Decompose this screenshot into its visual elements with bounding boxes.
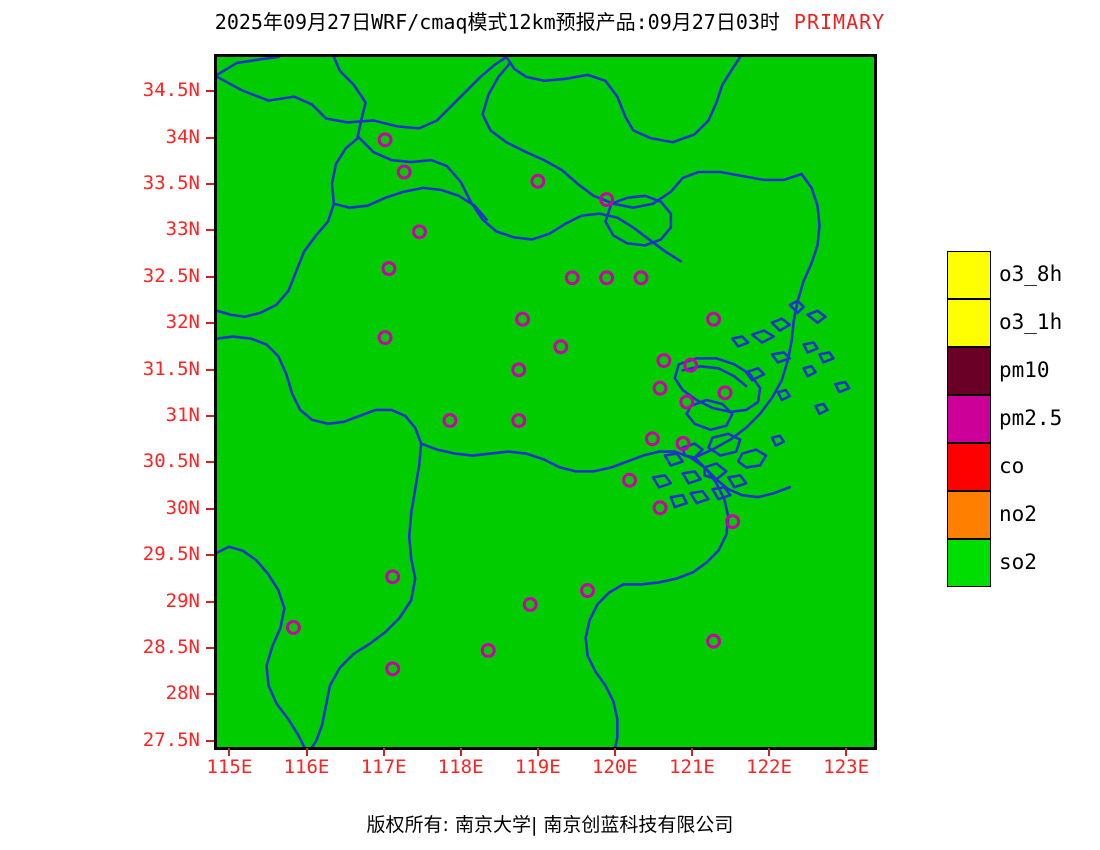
x-axis-tick [614,748,616,756]
y-axis-tick-label: 32N [100,313,200,332]
x-axis-tick-label: 120E [575,758,655,777]
y-axis-tick-label: 33.5N [100,174,200,193]
x-axis-tick [845,748,847,756]
legend-item-label: pm2.5 [999,407,1062,429]
y-axis-tick-label: 32.5N [100,267,200,286]
x-axis-tick [537,748,539,756]
y-axis-tick-label: 30N [100,499,200,518]
y-axis-tick-label: 29.5N [100,545,200,564]
y-axis-tick [206,137,214,139]
x-axis-tick-label: 118E [421,758,501,777]
legend-color-swatch [947,251,991,299]
y-axis-tick [206,508,214,510]
legend-color-swatch [947,443,991,491]
x-axis-tick-label: 116E [267,758,347,777]
map-canvas [217,57,874,747]
y-axis-tick [206,554,214,556]
y-axis-tick-label: 34N [100,128,200,147]
legend-item-label: o3_1h [999,311,1062,333]
y-axis-tick [206,740,214,742]
x-axis-tick [383,748,385,756]
x-axis-tick-label: 121E [652,758,732,777]
y-axis-tick-label: 28N [100,684,200,703]
y-axis-tick [206,647,214,649]
chart-title-primary: PRIMARY [794,10,885,34]
y-axis-tick-label: 30.5N [100,452,200,471]
y-axis-tick-label: 31.5N [100,360,200,379]
x-axis-tick-label: 122E [729,758,809,777]
y-axis-tick-label: 33N [100,220,200,239]
x-axis-tick [460,748,462,756]
x-axis-tick-label: 119E [498,758,578,777]
legend-color-swatch [947,395,991,443]
x-axis-tick [691,748,693,756]
x-axis-tick [228,748,230,756]
legend-item-label: o3_8h [999,263,1062,285]
map-plot-area[interactable] [214,54,877,750]
legend-item-label: pm10 [999,359,1050,381]
y-axis-tick [206,415,214,417]
y-axis-tick [206,90,214,92]
y-axis-tick-label: 34.5N [100,81,200,100]
x-axis-tick-label: 115E [189,758,269,777]
y-axis-tick-label: 31N [100,406,200,425]
y-axis-tick-label: 28.5N [100,638,200,657]
legend-color-swatch [947,347,991,395]
x-axis-tick-label: 117E [344,758,424,777]
y-axis-tick-label: 29N [100,592,200,611]
y-axis-tick [206,461,214,463]
legend-item-label: so2 [999,551,1037,573]
x-axis-tick-label: 123E [806,758,886,777]
y-axis-tick [206,183,214,185]
chart-title-main: 2025年09月27日WRF/cmaq模式12km预报产品:09月27日03时 [215,10,780,34]
y-axis-tick-label: 27.5N [100,731,200,750]
legend-color-swatch [947,299,991,347]
y-axis-tick [206,369,214,371]
x-axis-tick [768,748,770,756]
y-axis-tick [206,276,214,278]
legend-item-label: co [999,455,1024,477]
y-axis-tick [206,601,214,603]
y-axis-tick [206,229,214,231]
y-axis-tick [206,693,214,695]
y-axis-tick [206,322,214,324]
chart-title: 2025年09月27日WRF/cmaq模式12km预报产品:09月27日03时P… [0,10,1100,34]
x-axis-tick [306,748,308,756]
legend-color-swatch [947,491,991,539]
legend-item-label: no2 [999,503,1037,525]
legend-color-swatch [947,539,991,587]
copyright-footer: 版权所有: 南京大学| 南京创蓝科技有限公司 [0,810,1100,837]
